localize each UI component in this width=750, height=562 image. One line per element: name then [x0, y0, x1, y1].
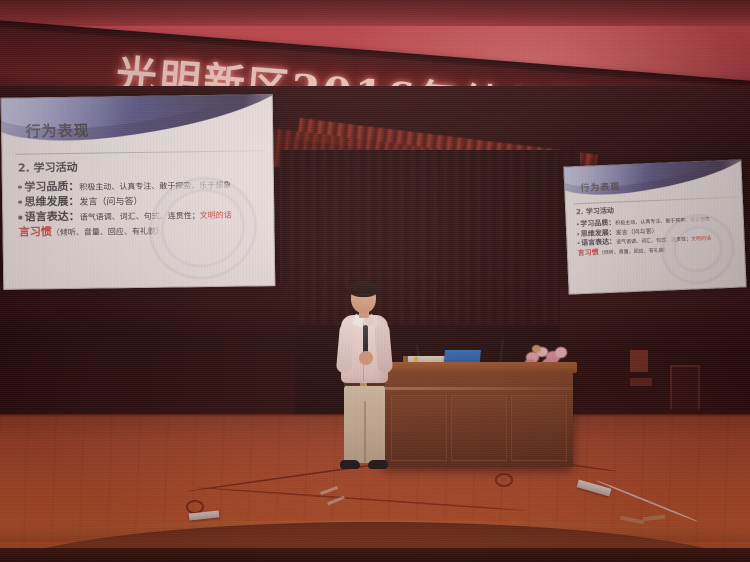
bullet-dot-icon [18, 186, 21, 189]
center-curtain [280, 150, 580, 325]
presenter-shoe-left [340, 460, 360, 469]
glasses-icon [353, 294, 374, 300]
slide-right: 行为表现 2. 学习活动 学习品质：积极主动、认真专注、敢于探索、乐于想象 思维… [563, 159, 746, 294]
left-curtain-wall [0, 282, 295, 416]
left-projection-screen: 行为表现 2. 学习活动 学习品质：积极主动、认真专注、敢于探索、乐于想象 思维… [1, 94, 276, 290]
podium-trim [383, 387, 573, 390]
slide-section-heading: 2. 学习活动 [18, 158, 268, 177]
stage-chair [670, 365, 700, 409]
bullet-dot-icon [576, 223, 578, 225]
podium-top-surface [379, 362, 577, 373]
hall-floor [0, 548, 750, 562]
podium-panel [511, 395, 567, 461]
ceiling-edge [0, 0, 750, 26]
right-curtain-wall [560, 288, 750, 418]
podium-panel [451, 395, 507, 461]
presenter [326, 283, 404, 479]
stage-photo-scene: 光明新区2016年幼儿园骨干教师培训 行为表现 2. 学习活动 学习品质：积极主… [0, 0, 750, 562]
stage-wing-panel-lower [630, 378, 652, 386]
slide-title: 行为表现 [25, 120, 89, 142]
bullet-dot-icon [18, 201, 21, 204]
bullet-dot-icon [577, 242, 579, 244]
cable-loop [495, 473, 513, 487]
slide-title-rule [15, 150, 265, 154]
presenter-shoe-right [368, 460, 388, 469]
wooden-podium [383, 369, 573, 467]
slide-left: 行为表现 2. 学习活动 学习品质：积极主动、认真专注、敢于探索、乐于想象 思维… [1, 94, 276, 290]
presenter-arm-right [374, 322, 393, 373]
stage-wing-panel [630, 350, 648, 372]
presenter-trouser-seam [364, 401, 366, 463]
flower-petal [532, 345, 541, 353]
slide-title: 行为表现 [580, 180, 621, 195]
bullet-dot-icon [577, 233, 579, 235]
presenter-hands [359, 351, 373, 365]
flower-petal [555, 347, 567, 358]
right-projection-screen: 行为表现 2. 学习活动 学习品质：积极主动、认真专注、敢于探索、乐于想象 思维… [563, 159, 746, 294]
bullet-dot-icon [19, 216, 22, 219]
